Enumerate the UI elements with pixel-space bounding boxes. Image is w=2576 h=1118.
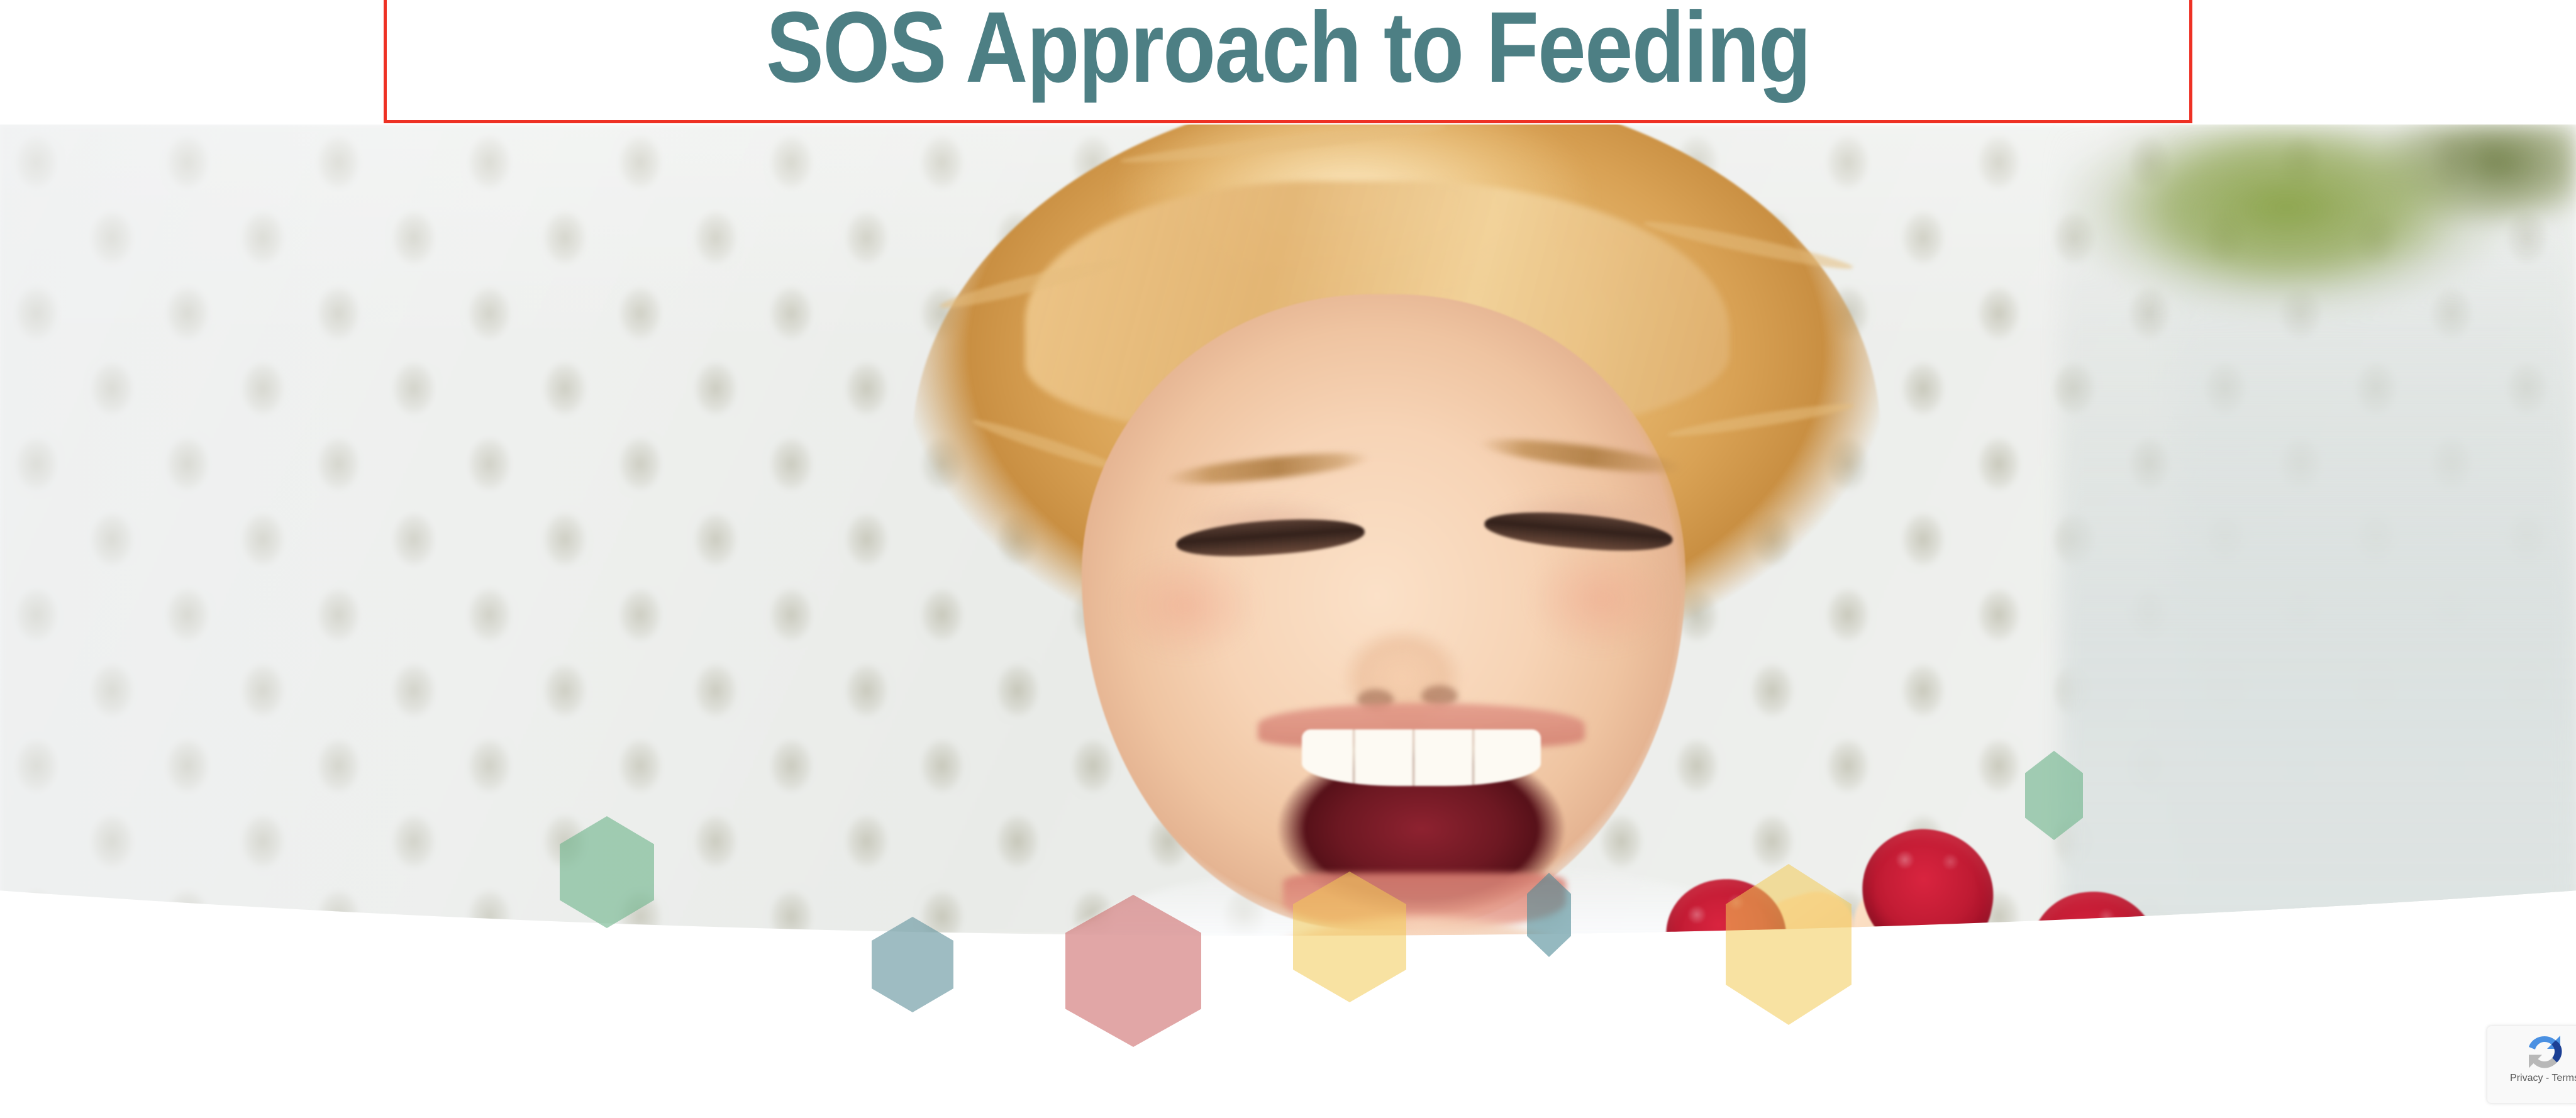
- page-title: SOS Approach to Feeding: [766, 0, 1810, 101]
- recaptcha-logo-icon: [2524, 1031, 2565, 1071]
- teeth: [1302, 729, 1541, 786]
- hero-photo-banner: [0, 125, 2576, 936]
- child-subject: [893, 125, 1912, 936]
- recaptcha-badge[interactable]: Privacy - Terms: [2487, 1026, 2576, 1103]
- page-root: SOS Approach to Feeding Privacy - Terms: [0, 0, 2576, 1118]
- cheek-left: [1113, 552, 1258, 659]
- foliage-blur: [2060, 125, 2576, 936]
- cheek-right: [1528, 546, 1673, 653]
- title-band: SOS Approach to Feeding: [0, 0, 2576, 126]
- hero-image: [0, 125, 2576, 936]
- title-highlight-box: SOS Approach to Feeding: [384, 0, 2192, 123]
- recaptcha-privacy-terms-label[interactable]: Privacy - Terms: [2510, 1073, 2576, 1084]
